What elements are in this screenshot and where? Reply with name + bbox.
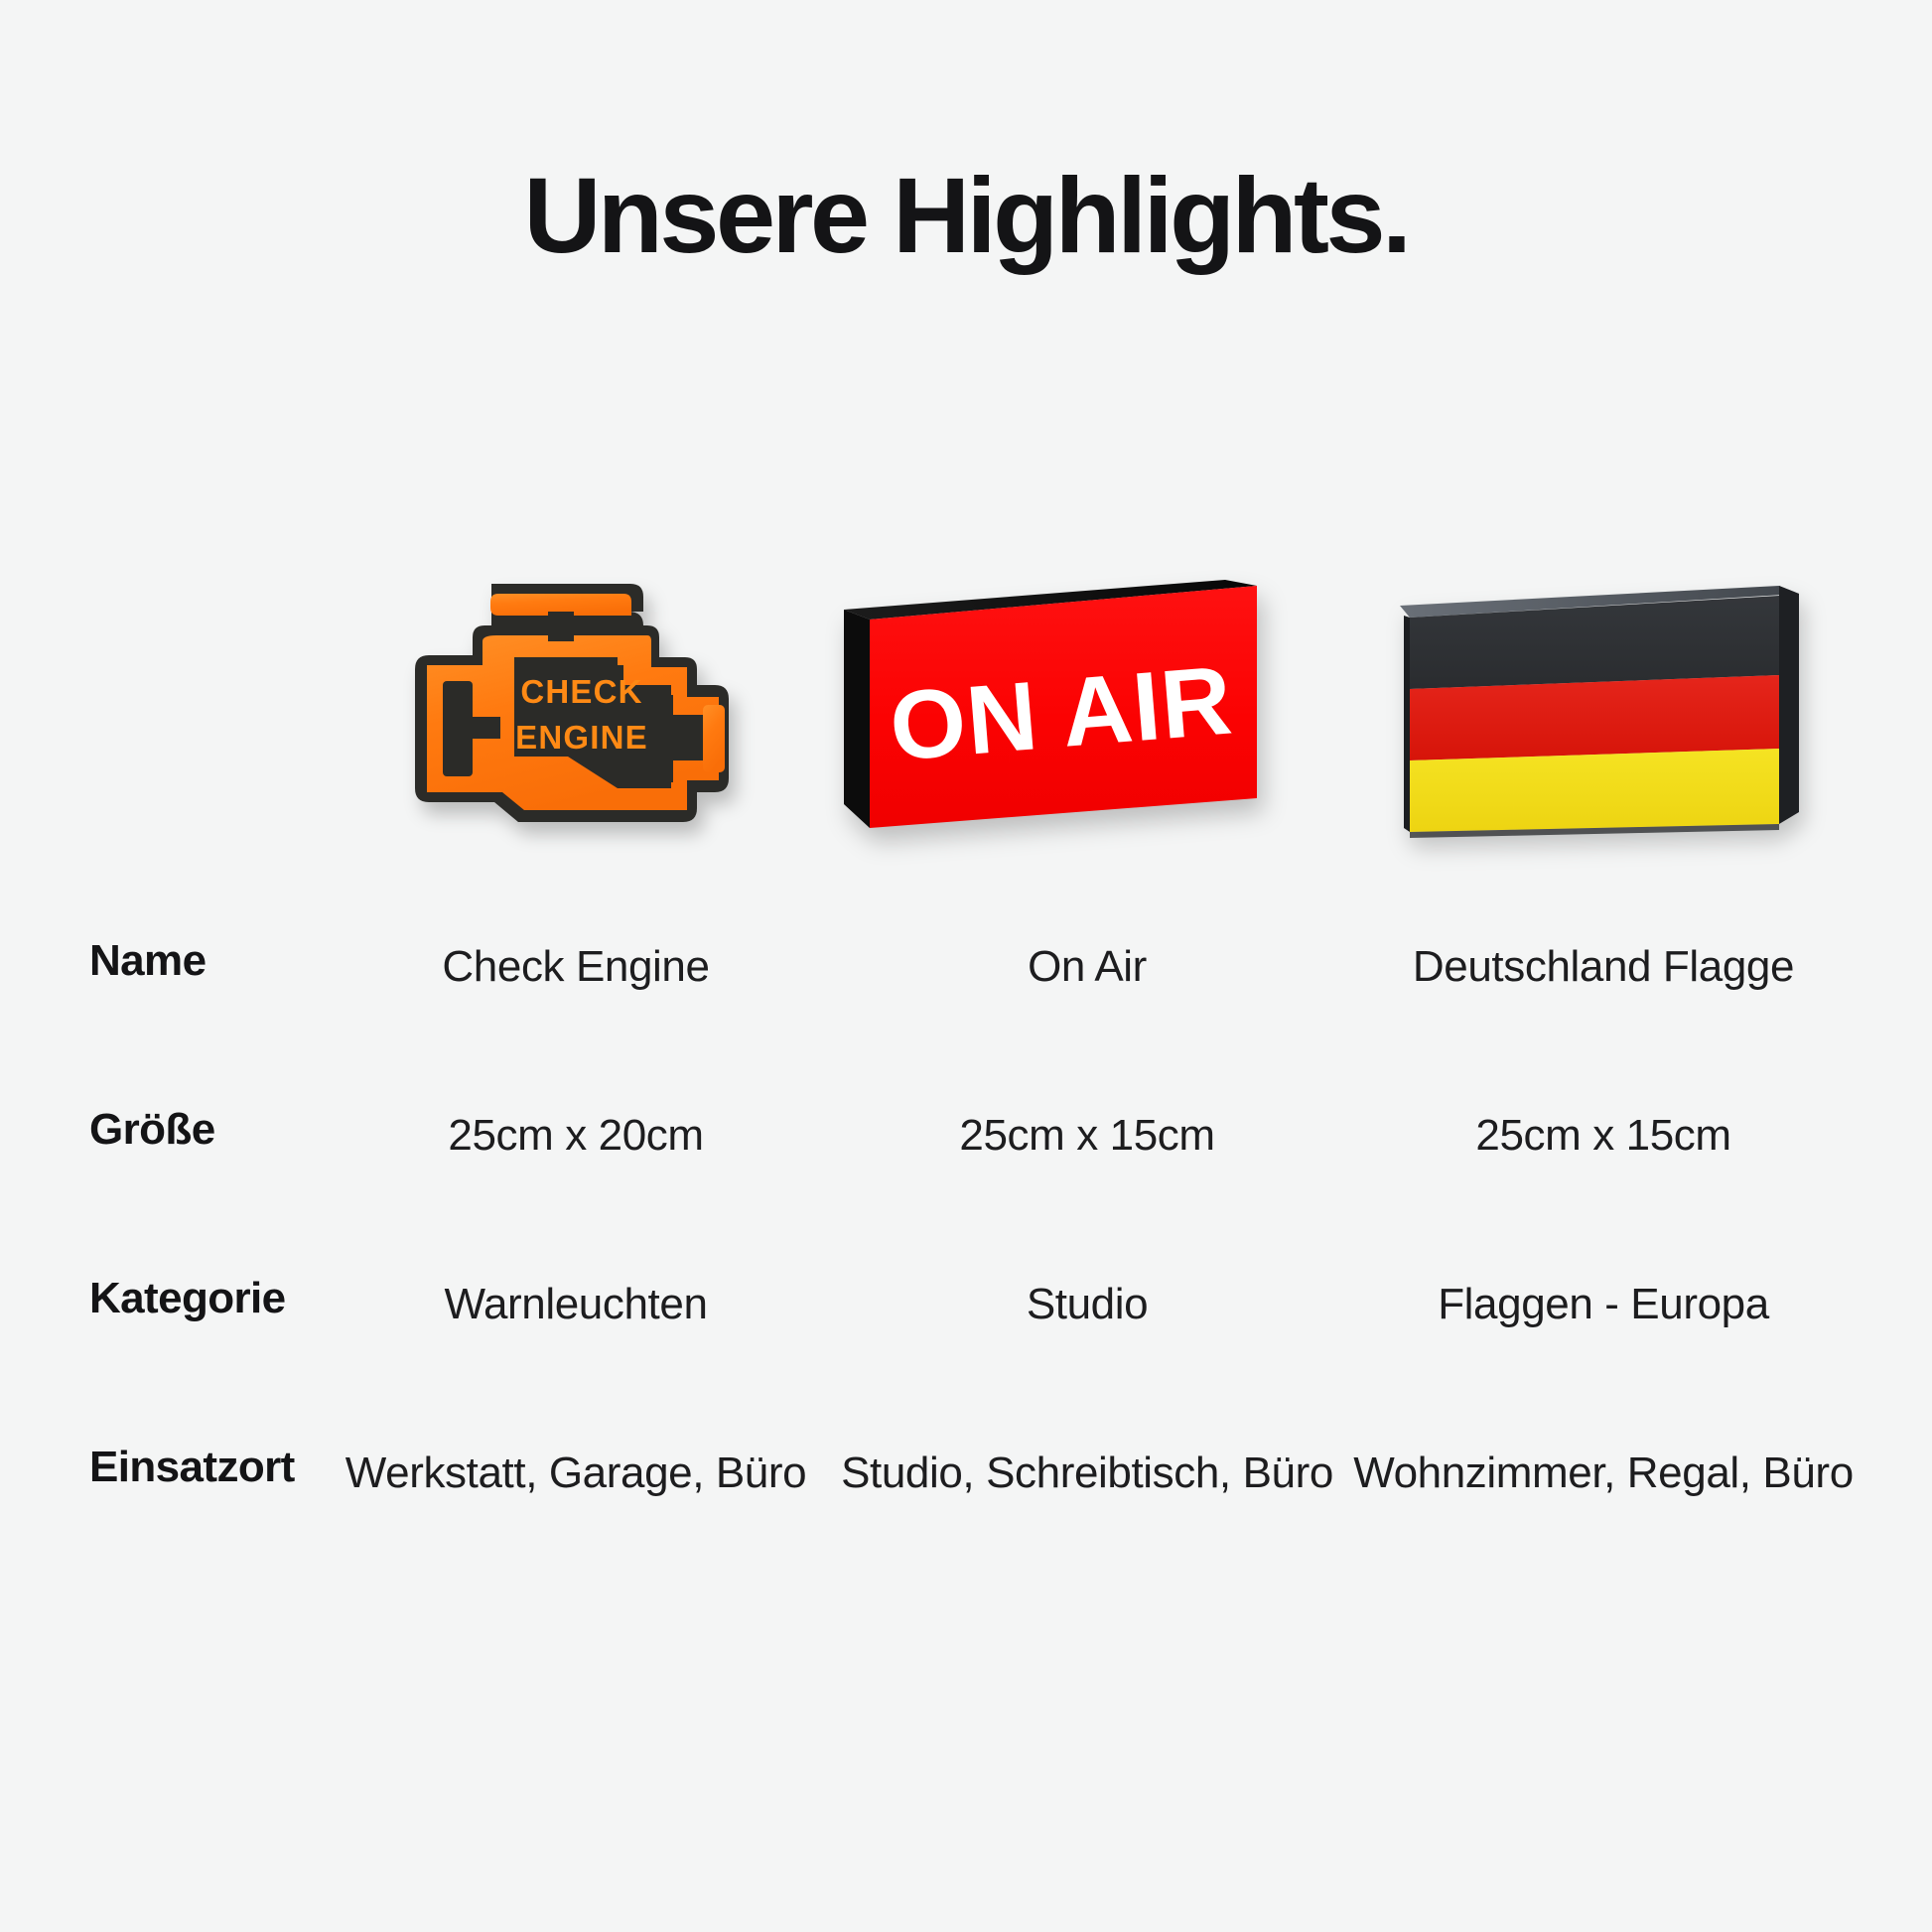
deutschland-flagge-lamp-image	[1390, 578, 1807, 846]
row-label-name: Name	[0, 933, 328, 988]
row-label-kategorie: Kategorie	[0, 1271, 328, 1325]
cell-kategorie-on-air: Studio	[824, 1271, 1350, 1338]
cell-groesse-on-air: 25cm x 15cm	[824, 1102, 1350, 1170]
cell-einsatzort-on-air: Studio, Schreibtisch, Büro	[824, 1440, 1350, 1507]
cell-groesse-deutschland-flagge: 25cm x 15cm	[1350, 1102, 1857, 1170]
check-engine-line-2: ENGINE	[515, 719, 648, 756]
cell-name-on-air: On Air	[824, 933, 1350, 1001]
table-row: Kategorie Warnleuchten Studio Flaggen - …	[0, 1271, 1932, 1440]
product-cell-deutschland-flagge	[1370, 556, 1876, 874]
product-cell-check-engine: CHECK ENGINE	[328, 556, 824, 874]
cell-einsatzort-check-engine: Werkstatt, Garage, Büro	[328, 1440, 824, 1507]
page-title: Unsere Highlights.	[0, 157, 1932, 275]
check-engine-line-1: CHECK	[520, 673, 642, 710]
table-row: Einsatzort Werkstatt, Garage, Büro Studi…	[0, 1440, 1932, 1668]
cell-groesse-check-engine: 25cm x 20cm	[328, 1102, 824, 1170]
spec-table: Name Check Engine On Air Deutschland Fla…	[0, 933, 1932, 1668]
product-cell-on-air: ON AIR	[824, 556, 1350, 874]
check-engine-lamp-image: CHECK ENGINE	[387, 566, 784, 854]
cell-name-deutschland-flagge: Deutschland Flagge	[1350, 933, 1857, 1001]
product-image-row: CHECK ENGINE	[328, 556, 1876, 874]
on-air-lamp-image: ON AIR	[836, 578, 1283, 856]
cell-name-check-engine: Check Engine	[328, 933, 824, 1001]
table-row: Name Check Engine On Air Deutschland Fla…	[0, 933, 1932, 1102]
row-label-groesse: Größe	[0, 1102, 328, 1157]
cell-kategorie-check-engine: Warnleuchten	[328, 1271, 824, 1338]
highlights-page: Unsere Highlights.	[0, 0, 1932, 1932]
cell-kategorie-deutschland-flagge: Flaggen - Europa	[1350, 1271, 1857, 1338]
cell-einsatzort-deutschland-flagge: Wohnzimmer, Regal, Büro	[1350, 1440, 1857, 1507]
row-label-einsatzort: Einsatzort	[0, 1440, 328, 1494]
table-row: Größe 25cm x 20cm 25cm x 15cm 25cm x 15c…	[0, 1102, 1932, 1271]
